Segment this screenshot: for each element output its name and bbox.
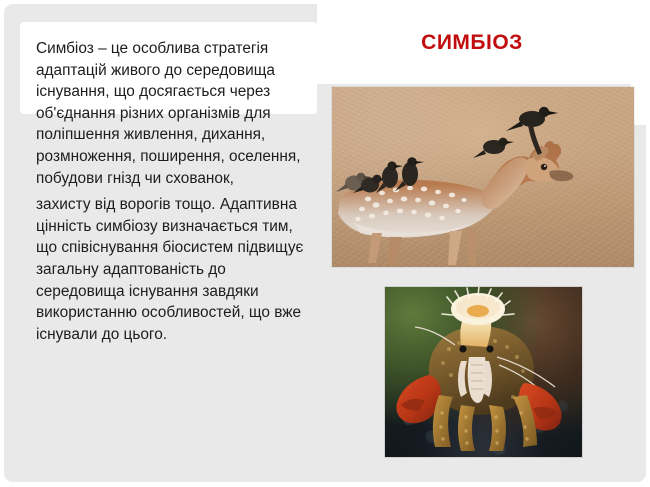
body-paragraph-2: захисту від ворогів тощо. Адаптивна цінн… [36, 194, 312, 345]
deer-with-starlings-photo [332, 87, 634, 267]
presentation-slide: СИМБІОЗ Симбіоз – це особлива стратегія … [4, 4, 646, 482]
crab-photo-artwork [385, 287, 582, 457]
body-paragraph-1: Симбіоз – це особлива стратегія адаптаці… [36, 38, 312, 189]
deer-photo-artwork [332, 87, 634, 267]
slide-body-text: Симбіоз – це особлива стратегія адаптаці… [36, 38, 312, 345]
hermit-crab-with-anemone-photo [385, 287, 582, 457]
slide-title: СИМБІОЗ [317, 31, 627, 55]
